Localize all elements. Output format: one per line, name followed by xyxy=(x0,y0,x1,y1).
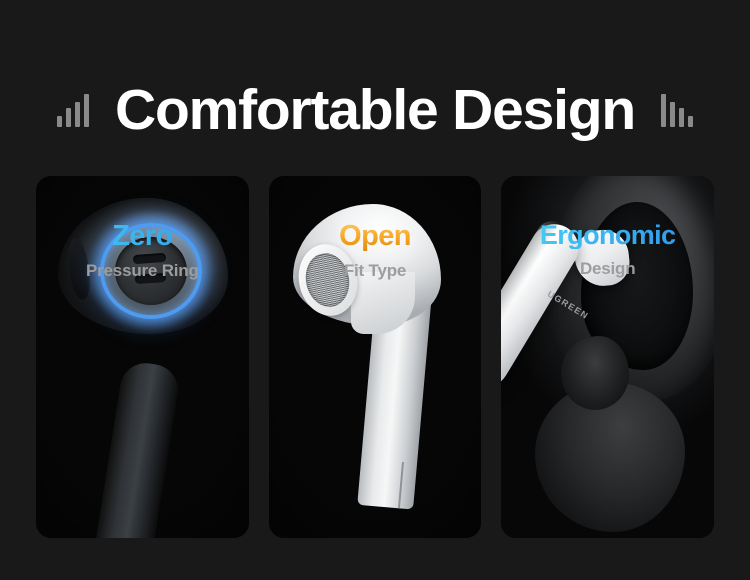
card-heading-group: Ergonomic Design xyxy=(501,176,714,277)
header: Comfortable Design xyxy=(0,72,750,148)
page-title: Comfortable Design xyxy=(115,82,635,139)
card-kicker: Zero xyxy=(36,222,249,251)
feature-card-ergonomic-design[interactable]: UGREEN Ergonomic Design xyxy=(501,176,714,538)
feature-card-row: Zero Pressure Ring Open Fit Type xyxy=(36,176,714,538)
feature-card-open-fit-type[interactable]: Open Fit Type xyxy=(269,176,482,538)
feature-card-zero-pressure-ring[interactable]: Zero Pressure Ring xyxy=(36,176,249,538)
earbud-stem xyxy=(95,359,182,538)
card-subtitle: Pressure Ring xyxy=(36,262,249,279)
card-heading-group: Zero Pressure Ring xyxy=(36,176,249,279)
ear-tragus xyxy=(561,336,629,410)
card-subtitle: Fit Type xyxy=(269,262,482,279)
card-kicker: Ergonomic xyxy=(501,222,714,249)
card-kicker: Open xyxy=(269,222,482,251)
card-subtitle: Design xyxy=(501,260,714,277)
equalizer-bars-right-icon xyxy=(661,93,693,127)
product-feature-banner: Comfortable Design Zero Pressure Ring xyxy=(0,0,750,580)
equalizer-bars-left-icon xyxy=(57,93,89,127)
card-heading-group: Open Fit Type xyxy=(269,176,482,279)
